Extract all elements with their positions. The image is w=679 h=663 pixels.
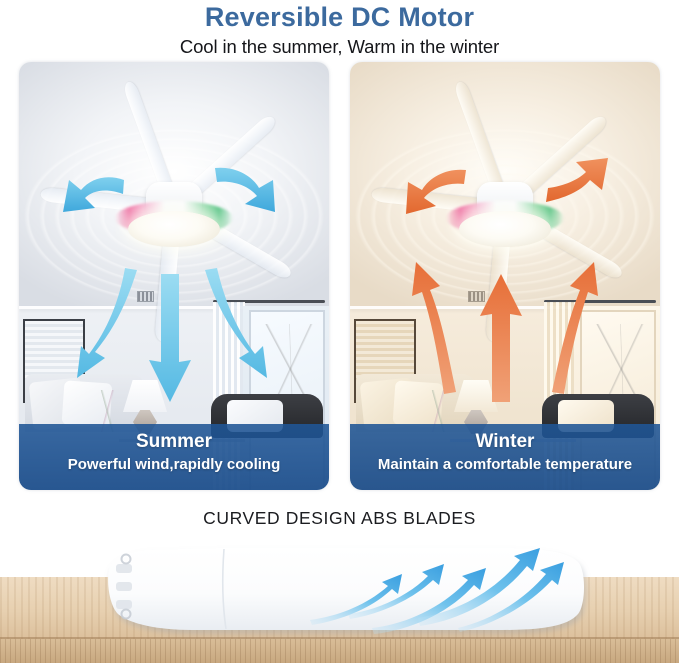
header: Reversible DC Motor Cool in the summer, … [0, 0, 679, 60]
curved-fan-blade [72, 542, 622, 652]
blade-photo [0, 540, 679, 663]
page-title: Reversible DC Motor [0, 2, 679, 32]
ceiling-fan-winter [355, 118, 655, 298]
caption-title: Summer [19, 430, 329, 454]
panel-winter: Winter Maintain a comfortable temperatur… [350, 62, 660, 490]
caption-summer: Summer Powerful wind,rapidly cooling [19, 424, 329, 490]
comparison-panels: Summer Powerful wind,rapidly cooling [0, 62, 679, 490]
blade-body [108, 548, 584, 630]
caption-subtitle: Powerful wind,rapidly cooling [19, 454, 329, 476]
caption-title: Winter [350, 430, 660, 454]
led-light-dome [459, 211, 551, 247]
ceiling-fan-summer [24, 118, 324, 298]
panel-summer: Summer Powerful wind,rapidly cooling [19, 62, 329, 490]
page-subtitle: Cool in the summer, Warm in the winter [0, 34, 679, 60]
caption-subtitle: Maintain a comfortable temperature [350, 454, 660, 476]
led-light-dome [128, 211, 220, 247]
caption-winter: Winter Maintain a comfortable temperatur… [350, 424, 660, 490]
blade-mount-bracket [116, 555, 132, 619]
blade-section-title: CURVED DESIGN ABS BLADES [0, 508, 679, 529]
